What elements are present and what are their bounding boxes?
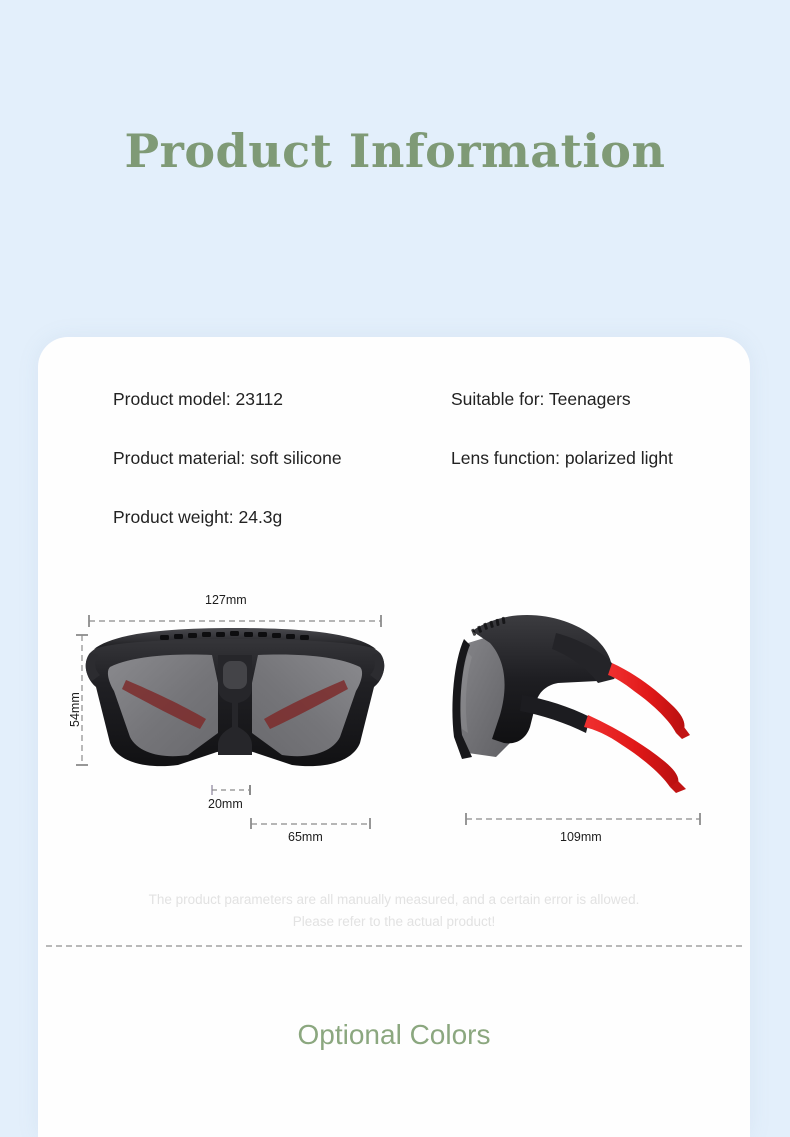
disclaimer-line-2: Please refer to the actual product!: [38, 911, 750, 933]
spec-product-material: Product material: soft silicone: [113, 448, 451, 469]
spec-product-model: Product model: 23112: [113, 389, 451, 410]
spec-empty: [451, 507, 733, 528]
section-divider: [46, 945, 742, 947]
product-figures: 127mm 54mm 20mm 65mm: [38, 587, 750, 877]
sunglasses-front-view-image: [60, 587, 410, 877]
spec-product-weight: Product weight: 24.3g: [113, 507, 451, 528]
spec-row: Product weight: 24.3g: [113, 507, 733, 528]
spec-lens-function: Lens function: polarized light: [451, 448, 733, 469]
optional-colors-heading: Optional Colors: [38, 1019, 750, 1051]
side-view-figure: 109mm: [438, 587, 738, 877]
front-view-figure: 127mm 54mm 20mm 65mm: [60, 587, 410, 877]
spec-row: Product model: 23112 Suitable for: Teena…: [113, 389, 733, 410]
dimension-label-height: 54mm: [68, 692, 82, 727]
product-info-card: Product model: 23112 Suitable for: Teena…: [38, 337, 750, 1137]
spec-suitable-for: Suitable for: Teenagers: [451, 389, 733, 410]
upper-temple-red: [608, 663, 685, 733]
dimension-label-length: 109mm: [560, 830, 602, 844]
dimension-label-bridge: 20mm: [208, 797, 243, 811]
spec-row: Product material: soft silicone Lens fun…: [113, 448, 733, 469]
lower-temple-red: [584, 715, 678, 787]
dimension-label-lens-width: 65mm: [288, 830, 323, 844]
dimension-label-width: 127mm: [205, 593, 247, 607]
disclaimer: The product parameters are all manually …: [38, 889, 750, 934]
bridge-vent: [223, 661, 247, 689]
spec-list: Product model: 23112 Suitable for: Teena…: [113, 389, 733, 566]
page-title: Product Information: [0, 124, 790, 178]
disclaimer-line-1: The product parameters are all manually …: [38, 889, 750, 911]
